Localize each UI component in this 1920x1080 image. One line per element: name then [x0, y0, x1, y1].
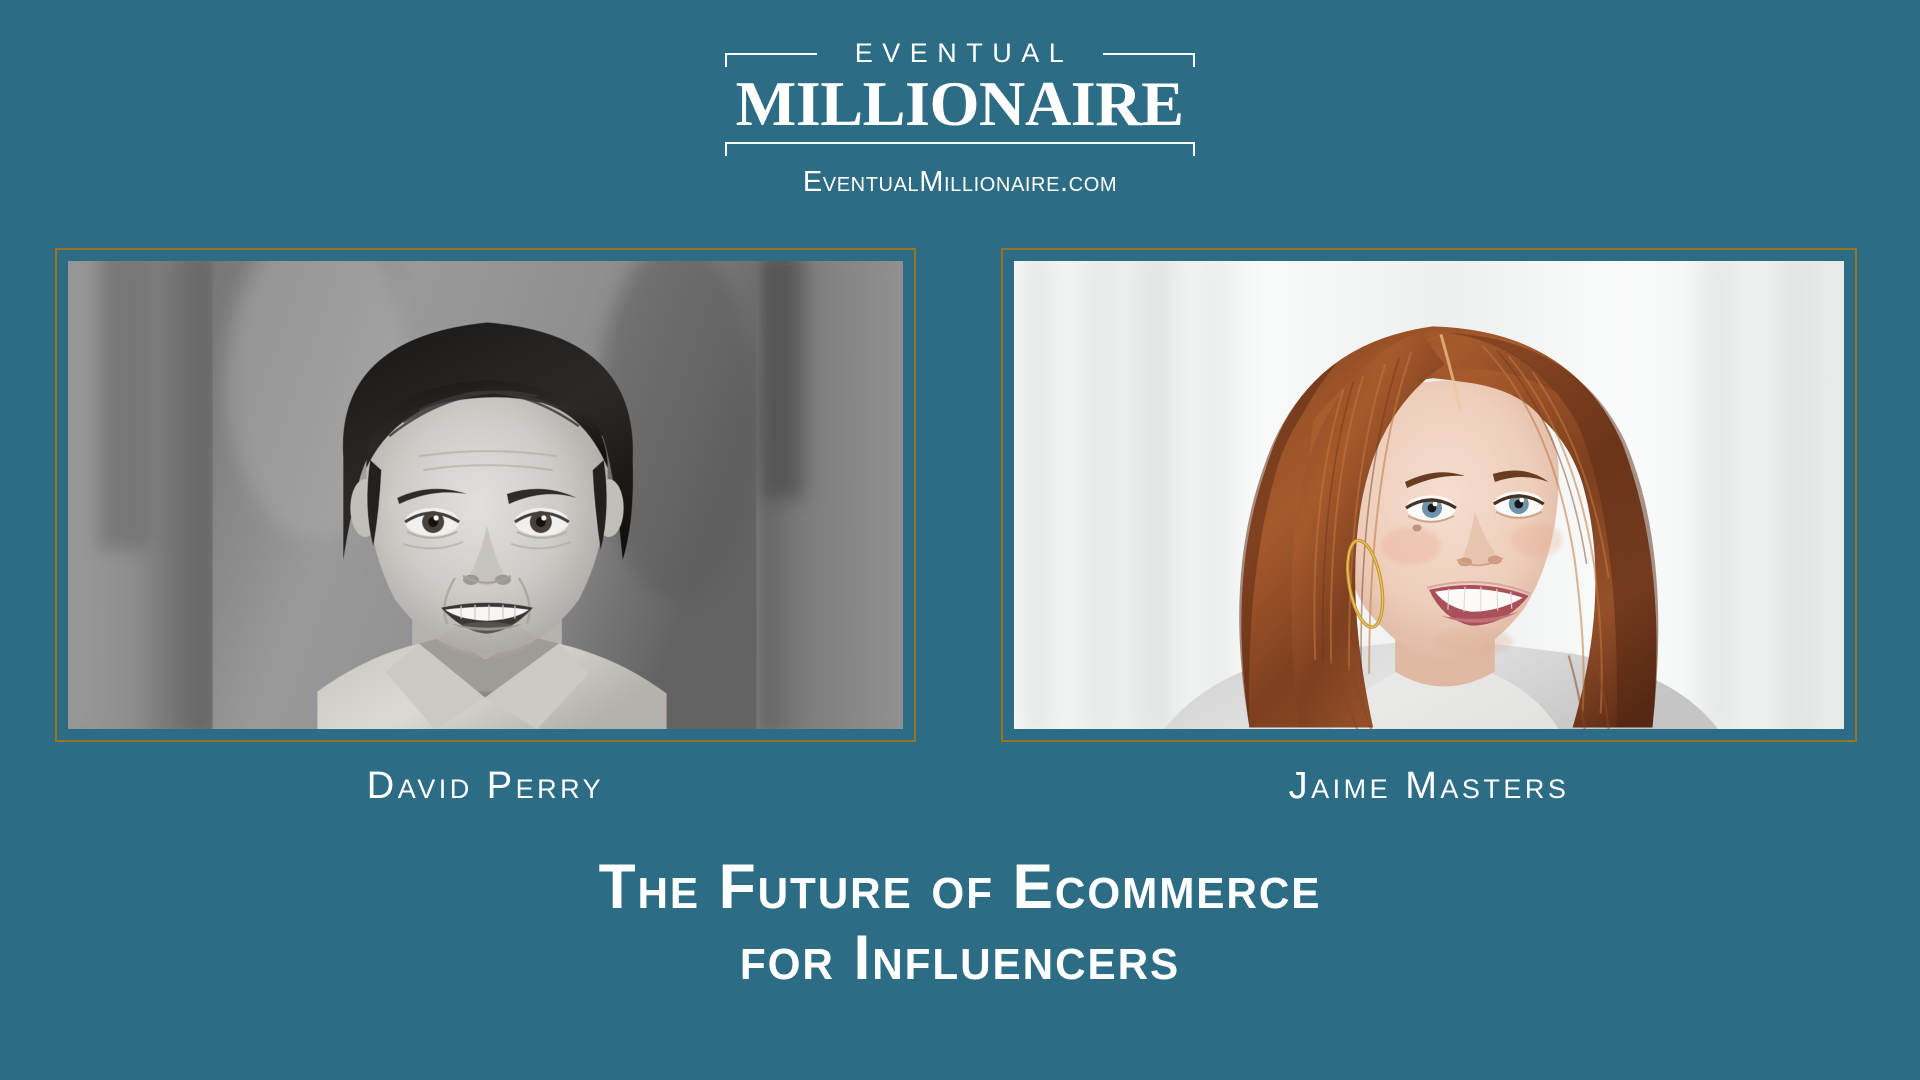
- portrait-jaime-masters-illustration: [1014, 261, 1844, 729]
- logo-rule-bottom-icon: [725, 142, 1195, 162]
- logo-wordmark: MILLIONAIRE: [736, 72, 1184, 136]
- guest-name-left: David Perry: [55, 765, 916, 808]
- guest-photo-jaime-masters: [1014, 261, 1844, 729]
- logo-eyebrow-row: EVENTUAL: [725, 36, 1195, 70]
- guest-photo-frame-right: [1001, 248, 1857, 742]
- guest-photo-frame-left: [55, 248, 916, 742]
- guest-name-right: Jaime Masters: [1001, 765, 1857, 808]
- episode-title-line-2: for Influencers: [38, 923, 1881, 994]
- episode-title: The Future of Ecommerce for Influencers: [38, 852, 1881, 993]
- episode-title-line-1: The Future of Ecommerce: [38, 852, 1881, 923]
- logo-domain-text: EventualMillionaire.com: [803, 166, 1117, 199]
- logo-rule-left-icon: [725, 42, 831, 64]
- eventual-millionaire-logo[interactable]: EVENTUAL MILLIONAIRE EventualMillionaire…: [725, 36, 1195, 199]
- logo-rule-right-icon: [1089, 42, 1195, 64]
- podcast-episode-card: EVENTUAL MILLIONAIRE EventualMillionaire…: [0, 0, 1920, 1080]
- logo-eyebrow-text: EVENTUAL: [831, 40, 1090, 67]
- portrait-david-perry-illustration: [68, 261, 903, 729]
- guest-photo-david-perry: [68, 261, 903, 729]
